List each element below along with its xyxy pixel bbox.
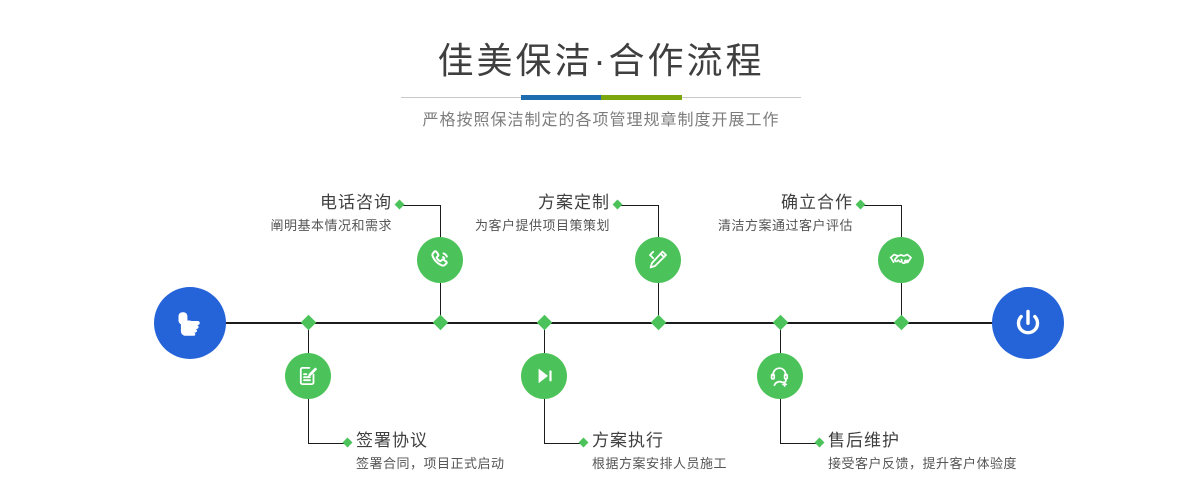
axis-diamond-3 bbox=[651, 315, 667, 331]
label-marker-4 bbox=[579, 438, 589, 448]
title-divider bbox=[401, 95, 801, 101]
timeline-start-node bbox=[154, 287, 226, 359]
page-title: 佳美保洁·合作流程 bbox=[0, 38, 1202, 84]
step-icon-4 bbox=[521, 353, 567, 399]
step-desc-4: 根据方案安排人员施工 bbox=[592, 454, 727, 474]
step-title-6: 售后维护 bbox=[828, 430, 1017, 452]
step-icon-1 bbox=[417, 237, 463, 283]
label-marker-6 bbox=[815, 438, 825, 448]
timeline-end-node bbox=[992, 287, 1064, 359]
connector-elbow-6 bbox=[780, 443, 819, 444]
connector-elbow-4 bbox=[544, 443, 583, 444]
page-header: 佳美保洁·合作流程 严格按照保洁制定的各项管理规章制度开展工作 bbox=[0, 0, 1202, 150]
step-label-2: 签署协议 签署合同，项目正式启动 bbox=[356, 430, 505, 474]
step-icon-2 bbox=[285, 353, 331, 399]
customer-service-icon bbox=[766, 362, 794, 390]
step-label-3: 方案定制 为客户提供项目策策划 bbox=[414, 192, 610, 236]
axis-diamond-4 bbox=[537, 315, 553, 331]
axis-diamond-2 bbox=[301, 315, 317, 331]
step-icon-3 bbox=[635, 237, 681, 283]
step-label-5: 确立合作 清洁方案通过客户评估 bbox=[653, 192, 853, 236]
step-desc-3: 为客户提供项目策策划 bbox=[414, 216, 610, 236]
step-icon-6 bbox=[757, 353, 803, 399]
label-marker-1 bbox=[395, 200, 405, 210]
document-sign-icon bbox=[294, 362, 322, 390]
step-title-4: 方案执行 bbox=[592, 430, 727, 452]
step-icon-5 bbox=[878, 237, 924, 283]
power-icon bbox=[1008, 303, 1048, 343]
step-title-5: 确立合作 bbox=[653, 192, 853, 214]
step-desc-2: 签署合同，项目正式启动 bbox=[356, 454, 505, 474]
pointing-hand-icon bbox=[170, 303, 210, 343]
phone-call-icon bbox=[426, 246, 454, 274]
step-desc-1: 阐明基本情况和需求 bbox=[196, 216, 392, 236]
step-desc-5: 清洁方案通过客户评估 bbox=[653, 216, 853, 236]
step-label-4: 方案执行 根据方案安排人员施工 bbox=[592, 430, 727, 474]
label-marker-3 bbox=[613, 200, 623, 210]
divider-segment-blue bbox=[521, 95, 601, 100]
connector-elbow-5 bbox=[863, 205, 902, 206]
axis-diamond-5 bbox=[894, 315, 910, 331]
label-marker-2 bbox=[343, 438, 353, 448]
step-label-1: 电话咨询 阐明基本情况和需求 bbox=[196, 192, 392, 236]
page-subtitle: 严格按照保洁制定的各项管理规章制度开展工作 bbox=[0, 106, 1202, 130]
step-title-3: 方案定制 bbox=[414, 192, 610, 214]
process-timeline: 电话咨询 阐明基本情况和需求 签署协议 bbox=[0, 160, 1202, 502]
step-label-6: 售后维护 接受客户反馈，提升客户体验度 bbox=[828, 430, 1017, 474]
handshake-icon bbox=[887, 246, 915, 274]
step-desc-6: 接受客户反馈，提升客户体验度 bbox=[828, 454, 1017, 474]
step-title-1: 电话咨询 bbox=[196, 192, 392, 214]
pencil-draft-icon bbox=[644, 246, 672, 274]
step-title-2: 签署协议 bbox=[356, 430, 505, 452]
connector-elbow-2 bbox=[308, 443, 347, 444]
axis-diamond-6 bbox=[773, 315, 789, 331]
label-marker-5 bbox=[856, 200, 866, 210]
axis-diamond-1 bbox=[433, 315, 449, 331]
flow-diagram-page: 佳美保洁·合作流程 严格按照保洁制定的各项管理规章制度开展工作 bbox=[0, 0, 1202, 502]
play-execute-icon bbox=[530, 362, 558, 390]
divider-segment-green bbox=[601, 95, 682, 100]
